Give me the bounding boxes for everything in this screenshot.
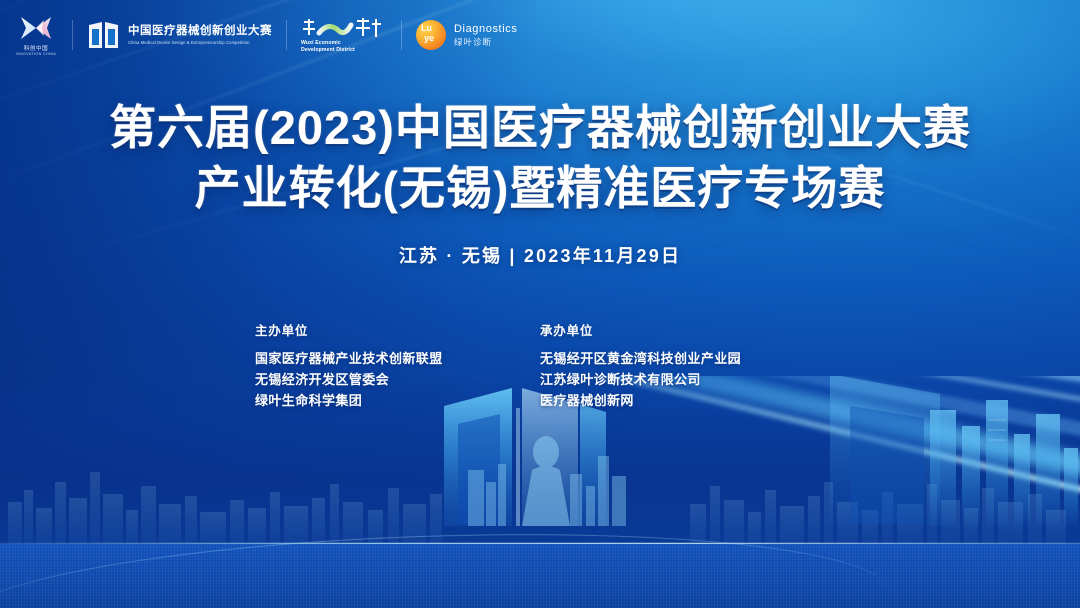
luye-badge-top: Lu	[421, 24, 432, 33]
butterfly-mark-icon	[14, 14, 58, 42]
poster-canvas: 科创中国 INNOVATION CHINA 中国医疗器械创新创业大赛 China…	[0, 0, 1080, 608]
logo-cmd-cn: 中国医疗器械创新创业大赛	[128, 25, 272, 38]
logo-cmd-en: China Medical Device Design & Entreprene…	[128, 40, 272, 45]
logo-luye-cn: 绿叶诊断	[454, 37, 517, 47]
host-item: 绿叶生命科学集团	[255, 390, 540, 411]
host-column: 主办单位 国家医疗器械产业技术创新联盟 无锡经济开发区管委会 绿叶生命科学集团	[255, 320, 540, 411]
logo-kechuang-en: INNOVATION CHINA	[16, 52, 56, 56]
open-door-mark-icon	[87, 20, 121, 50]
cohost-column: 承办单位 无锡经开区黄金湾科技创业产业园 江苏绿叶诊断技术有限公司 医疗器械创新…	[540, 320, 825, 411]
logo-luye-en: Diagnostics	[454, 23, 517, 36]
logo-kechuang-zhongguo: 科创中国 INNOVATION CHINA	[14, 14, 58, 56]
logo-divider	[72, 20, 73, 50]
logo-wuxi-en-line2: Development District	[301, 47, 387, 54]
sponsor-logo-bar: 科创中国 INNOVATION CHINA 中国医疗器械创新创业大赛 China…	[0, 0, 1080, 70]
title-line-2: 产业转化(无锡)暨精准医疗专场赛	[0, 158, 1080, 218]
logo-wuxi-economic-development-district: Wuxi Economic Development District	[301, 17, 387, 54]
organizers-section: 主办单位 国家医疗器械产业技术创新联盟 无锡经济开发区管委会 绿叶生命科学集团 …	[0, 320, 1080, 411]
host-heading: 主办单位	[255, 320, 540, 339]
host-item: 国家医疗器械产业技术创新联盟	[255, 348, 540, 369]
cohost-item: 江苏绿叶诊断技术有限公司	[540, 369, 825, 390]
cohost-heading: 承办单位	[540, 320, 825, 339]
title-line-1: 第六届(2023)中国医疗器械创新创业大赛	[0, 98, 1080, 158]
cohost-item: 医疗器械创新网	[540, 390, 825, 411]
cohost-item: 无锡经开区黄金湾科技创业产业园	[540, 348, 825, 369]
title-block: 第六届(2023)中国医疗器械创新创业大赛 产业转化(无锡)暨精准医疗专场赛 江…	[0, 98, 1080, 268]
logo-divider	[286, 20, 287, 50]
luye-badge-bottom: ye	[424, 34, 434, 43]
host-item: 无锡经济开发区管委会	[255, 369, 540, 390]
logo-divider	[401, 20, 402, 50]
calligraphy-mark-icon	[301, 17, 387, 39]
luye-circle-mark-icon: Lu ye	[416, 20, 446, 50]
logo-china-medical-device-competition: 中国医疗器械创新创业大赛 China Medical Device Design…	[87, 20, 272, 50]
logo-luye-diagnostics: Lu ye Diagnostics 绿叶诊断	[416, 20, 517, 50]
date-location-line: 江苏 · 无锡 | 2023年11月29日	[0, 242, 1080, 268]
logo-kechuang-cn: 科创中国	[24, 44, 48, 52]
logo-wuxi-en-line1: Wuxi Economic	[301, 40, 387, 47]
